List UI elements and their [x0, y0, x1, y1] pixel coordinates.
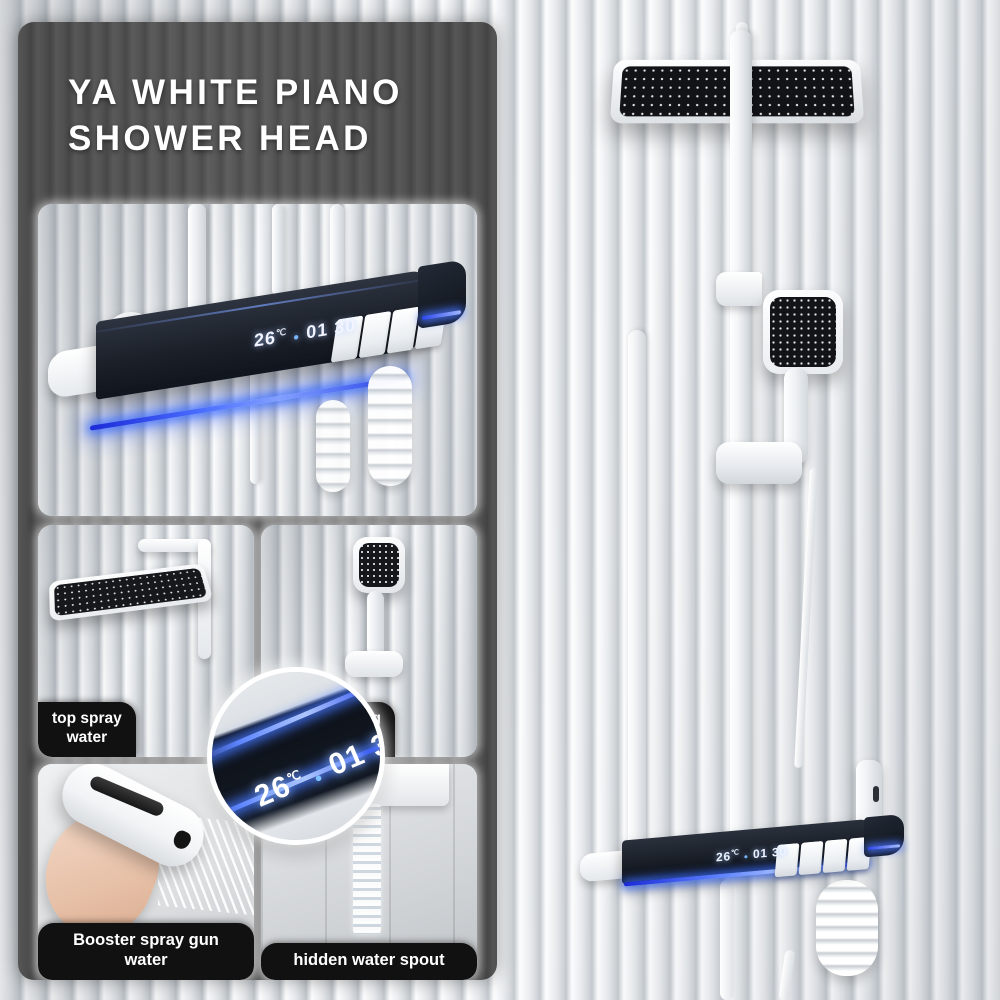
title-line-1: YA WHITE PIANO [68, 70, 487, 116]
hand-shower-head [763, 290, 843, 374]
piano-key-3[interactable] [823, 839, 848, 873]
marketing-collage-card: YA WHITE PIANO SHOWER HEAD 26℃ ● 01 30 [18, 22, 497, 980]
panel-coiled-hose [368, 366, 412, 486]
panel-riser-pipe [188, 204, 206, 312]
hidden-water-spout-outlet [720, 880, 734, 1000]
caption-hidden-spout: hidden water spout [261, 943, 477, 980]
shower-hose [794, 468, 818, 768]
gun-nozzle [171, 828, 193, 851]
handheld-shower-handle [367, 591, 384, 657]
display-drop-icon: ● [293, 331, 300, 343]
panel-hose-pipe [330, 204, 344, 290]
hero-display-time: 01 30 [753, 844, 787, 861]
water-supply-pipe [628, 330, 646, 860]
magnifier-callout-display: 26℃ ● 01 30 [212, 672, 380, 840]
page-title: YA WHITE PIANO SHOWER HEAD [28, 32, 487, 186]
caption-booster-gun: Booster spray gun water [38, 923, 254, 980]
product-hero-photo: 26℃ ● 01 30 [520, 0, 1000, 1000]
water-drop-icon: ● [744, 853, 749, 860]
display-unit: ℃ [276, 327, 287, 339]
handheld-nozzle-face [359, 543, 399, 587]
hero-display-temperature: 26 [716, 849, 731, 864]
magnifier-drop-icon: ● [312, 769, 326, 786]
display-temperature: 26 [254, 327, 276, 350]
control-bar-right-tip [864, 814, 904, 857]
panel-coiled-hose-2 [316, 400, 350, 492]
coiled-hose-tail [779, 950, 796, 1000]
feature-photo-control-panel: 26℃ ● 01 30 [38, 204, 477, 516]
piano-key-2[interactable] [799, 841, 824, 875]
coiled-hose [816, 880, 878, 976]
title-line-2: SHOWER HEAD [68, 116, 487, 162]
magnifier-time: 01 30 [324, 720, 380, 783]
hero-display-unit: ℃ [731, 849, 740, 857]
panel-right-tip [418, 259, 466, 329]
caption-top-spray-line2: water [52, 729, 122, 747]
magnifier-unit: ℃ [285, 767, 304, 786]
water-stream [353, 804, 381, 934]
caption-top-spray-line1: top spray [52, 710, 122, 728]
sliding-holder [716, 442, 802, 484]
handheld-shower-head [353, 537, 405, 593]
handshower-wall-bracket [716, 272, 762, 306]
magnifier-display-text: 26℃ ● 01 30 [250, 720, 380, 815]
panel-thin-pipe [272, 204, 284, 296]
hand-shower-nozzle-face [770, 297, 836, 367]
handheld-shower-holder [345, 651, 403, 677]
caption-top-spray: top spray water [38, 702, 136, 757]
